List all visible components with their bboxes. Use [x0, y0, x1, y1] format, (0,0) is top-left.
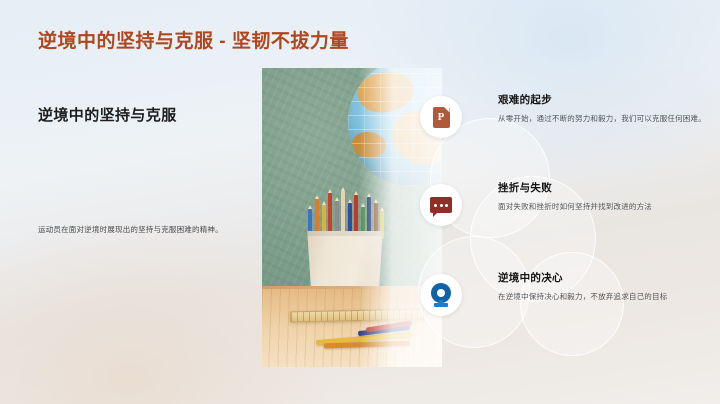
feature-text-group: 艰难的起步 从零开始，通过不断的努力和毅力，我们可以克服任何困难。 [498, 92, 712, 127]
document-letter: P [433, 107, 450, 128]
classroom-supplies-photo [262, 68, 442, 367]
feature-icon-badge [420, 274, 462, 316]
feature-description: 面对失败和挫折时如何坚持并找到改进的方法 [498, 200, 712, 215]
left-column: 逆境中的坚持与克服 [38, 106, 238, 126]
presentation-document-icon: P [433, 107, 450, 128]
feature-icon-badge: P [420, 96, 462, 138]
page-title: 逆境中的坚持与克服 - 坚韧不拔力量 [38, 26, 349, 53]
feature-title: 逆境中的决心 [498, 270, 712, 285]
feature-item: 逆境中的决心 在逆境中保持决心和毅力，不放弃追求自己的目标 [420, 270, 712, 348]
presentation-slide: 逆境中的坚持与克服 - 坚韧不拔力量 逆境中的坚持与克服 运动员在面对逆境时展现… [0, 0, 720, 404]
wooden-desk [262, 289, 442, 367]
feature-item: P 艰难的起步 从零开始，通过不断的努力和毅力，我们可以克服任何困难。 [420, 92, 712, 170]
feature-title: 挫折与失败 [498, 180, 712, 195]
feature-item: 挫折与失败 面对失败和挫折时如何坚持并找到改进的方法 [420, 180, 712, 258]
feature-description: 在逆境中保持决心和毅力，不放弃追求自己的目标 [498, 290, 712, 305]
section-heading: 逆境中的坚持与克服 [38, 106, 238, 126]
medal-badge-icon [430, 283, 452, 307]
feature-title: 艰难的起步 [498, 92, 712, 107]
speech-bubble-icon [430, 197, 452, 213]
section-body-text: 运动员在面对逆境时展现出的坚持与克服困难的精神。 [38, 223, 228, 237]
feature-text-group: 逆境中的决心 在逆境中保持决心和毅力，不放弃追求自己的目标 [498, 270, 712, 305]
feature-description: 从零开始，通过不断的努力和毅力，我们可以克服任何困难。 [498, 112, 712, 127]
feature-text-group: 挫折与失败 面对失败和挫折时如何坚持并找到改进的方法 [498, 180, 712, 215]
feature-icon-badge [420, 184, 462, 226]
